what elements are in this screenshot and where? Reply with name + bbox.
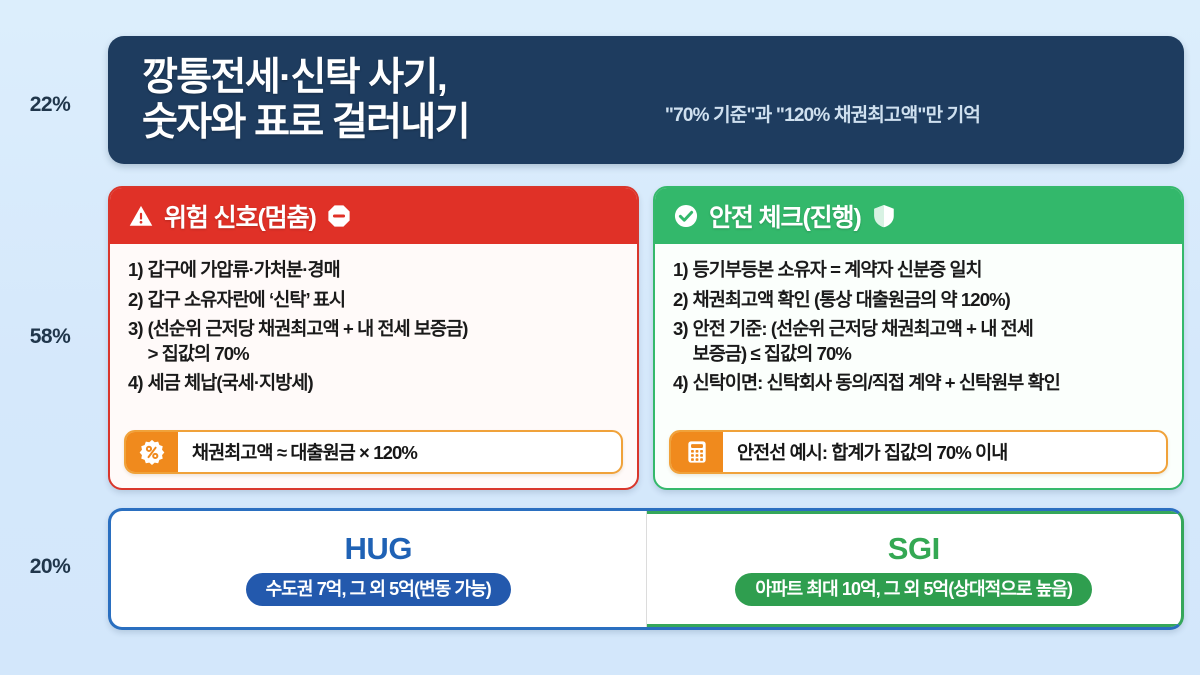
list-item-text: 갑구 소유자란에 ‘신탁’ 표시 bbox=[148, 288, 619, 313]
percent-badge-icon bbox=[138, 438, 166, 466]
list-item-number: 1) bbox=[128, 258, 148, 283]
hug-limit-badge: 수도권 7억, 그 외 5억(변동 가능) bbox=[246, 573, 511, 606]
shield-icon bbox=[871, 203, 897, 229]
list-item-number: 4) bbox=[673, 371, 693, 396]
insurance-card: HUG 수도권 7억, 그 외 5억(변동 가능) SGI 아파트 최대 10억… bbox=[108, 508, 1184, 630]
risk-panel-list: 1) 갑구에 가압류·가처분·경매 2) 갑구 소유자란에 ‘신탁’ 표시 3)… bbox=[110, 244, 637, 426]
risk-callout: 채권최고액 ≈ 대출원금 × 120% bbox=[124, 430, 623, 474]
calculator-icon bbox=[684, 439, 710, 465]
list-item-text: (선순위 근저당 채권최고액 + 내 전세 보증금) > 집값의 70% bbox=[148, 317, 619, 366]
list-item-text: 등기부등본 소유자 = 계약자 신분증 일치 bbox=[693, 258, 1164, 283]
comparison-panels: 위험 신호(멈춤) 1) 갑구에 가압류·가처분·경매 2) 갑구 소유자란에 … bbox=[108, 186, 1184, 490]
list-item: 1) 갑구에 가압류·가처분·경매 bbox=[128, 258, 619, 283]
sgi-name: SGI bbox=[888, 533, 940, 564]
list-item-number: 2) bbox=[128, 288, 148, 313]
sgi-limit-badge: 아파트 최대 10억, 그 외 5억(상대적으로 높음) bbox=[735, 573, 1092, 606]
risk-panel-title: 위험 신호(멈춤) bbox=[164, 198, 316, 234]
list-item-number: 4) bbox=[128, 371, 148, 396]
list-item-text: 안전 기준: (선순위 근저당 채권최고액 + 내 전세 보증금) ≤ 집값의 … bbox=[693, 317, 1164, 366]
list-item: 2) 갑구 소유자란에 ‘신탁’ 표시 bbox=[128, 288, 619, 313]
callout-icon-wrap bbox=[671, 432, 723, 472]
list-item-text: 세금 체납(국세·지방세) bbox=[148, 371, 619, 396]
page-subtitle: "70% 기준"과 "120% 채권최고액"만 기억 bbox=[469, 74, 1150, 127]
list-item-number: 3) bbox=[128, 317, 148, 366]
warning-triangle-icon bbox=[128, 203, 154, 229]
list-item: 3) (선순위 근저당 채권최고액 + 내 전세 보증금) > 집값의 70% bbox=[128, 317, 619, 366]
list-item: 1) 등기부등본 소유자 = 계약자 신분증 일치 bbox=[673, 258, 1164, 283]
list-item: 4) 신탁이면: 신탁회사 동의/직접 계약 + 신탁원부 확인 bbox=[673, 371, 1164, 396]
stop-sign-icon bbox=[326, 203, 352, 229]
safe-callout-text: 안전선 예시: 합계가 집값의 70% 이내 bbox=[723, 432, 1166, 472]
callout-icon-wrap bbox=[126, 432, 178, 472]
check-circle-icon bbox=[673, 203, 699, 229]
risk-panel-header: 위험 신호(멈춤) bbox=[110, 188, 637, 244]
list-item-number: 1) bbox=[673, 258, 693, 283]
header-banner: 깡통전세·신탁 사기, 숫자와 표로 걸러내기 "70% 기준"과 "120% … bbox=[108, 36, 1184, 164]
margin-label-bottom: 20% bbox=[0, 555, 100, 579]
list-item-text: 갑구에 가압류·가처분·경매 bbox=[148, 258, 619, 283]
sgi-column: SGI 아파트 최대 10억, 그 외 5억(상대적으로 높음) bbox=[646, 511, 1182, 627]
list-item-text: 채권최고액 확인 (통상 대출원금의 약 120%) bbox=[693, 288, 1164, 313]
list-item: 2) 채권최고액 확인 (통상 대출원금의 약 120%) bbox=[673, 288, 1164, 313]
hug-column: HUG 수도권 7억, 그 외 5억(변동 가능) bbox=[111, 511, 646, 627]
list-item-text: 신탁이면: 신탁회사 동의/직접 계약 + 신탁원부 확인 bbox=[693, 371, 1164, 396]
hug-name: HUG bbox=[345, 533, 412, 564]
list-item: 3) 안전 기준: (선순위 근저당 채권최고액 + 내 전세 보증금) ≤ 집… bbox=[673, 317, 1164, 366]
margin-label-middle: 58% bbox=[0, 325, 100, 349]
margin-label-top: 22% bbox=[0, 93, 100, 117]
risk-callout-text: 채권최고액 ≈ 대출원금 × 120% bbox=[178, 432, 621, 472]
list-item: 4) 세금 체납(국세·지방세) bbox=[128, 371, 619, 396]
safe-panel: 안전 체크(진행) 1) 등기부등본 소유자 = 계약자 신분증 일치 2) 채… bbox=[653, 186, 1184, 490]
page-title: 깡통전세·신탁 사기, 숫자와 표로 걸러내기 bbox=[142, 55, 469, 145]
safe-panel-list: 1) 등기부등본 소유자 = 계약자 신분증 일치 2) 채권최고액 확인 (통… bbox=[655, 244, 1182, 426]
list-item-number: 3) bbox=[673, 317, 693, 366]
list-item-number: 2) bbox=[673, 288, 693, 313]
safe-panel-header: 안전 체크(진행) bbox=[655, 188, 1182, 244]
safe-callout: 안전선 예시: 합계가 집값의 70% 이내 bbox=[669, 430, 1168, 474]
risk-panel: 위험 신호(멈춤) 1) 갑구에 가압류·가처분·경매 2) 갑구 소유자란에 … bbox=[108, 186, 639, 490]
safe-panel-title: 안전 체크(진행) bbox=[709, 198, 861, 234]
